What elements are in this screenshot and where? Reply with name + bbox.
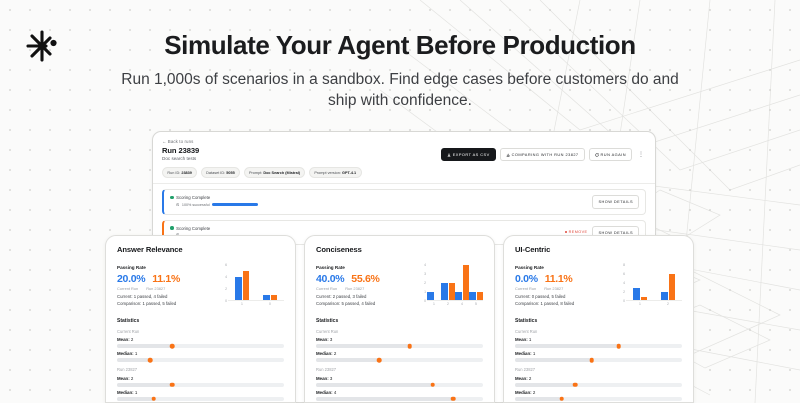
stat-slider-fill — [515, 397, 562, 401]
chip-value: 5055 — [226, 171, 234, 175]
stat-value: 2 — [334, 351, 336, 356]
y-tick-label: 4 — [225, 275, 227, 279]
bar — [243, 271, 250, 301]
comparison-run-label: Run 23827 — [544, 286, 563, 291]
current-passing-rate: 20.0% — [117, 273, 145, 285]
y-tick-label: 4 — [424, 263, 426, 267]
stat-slider[interactable] — [117, 344, 284, 348]
stat-slider-fill — [117, 397, 154, 401]
bar-group — [455, 265, 469, 301]
stat-slider-fill — [117, 344, 172, 348]
stat-label: Mean: 1 — [515, 337, 682, 342]
hero-section: Simulate Your Agent Before Production Ru… — [0, 30, 800, 112]
stat-slider[interactable] — [316, 358, 483, 362]
export-csv-label: EXPORT AS CSV — [453, 152, 490, 157]
scoring-status: Scoring Complete — [170, 195, 258, 200]
score-distribution-chart: 012341245 — [418, 265, 483, 309]
stat-slider[interactable] — [515, 344, 682, 348]
metric-card-ui-centric: UI-Centric Passing Rate 0.0% 11.1% Curre… — [503, 235, 694, 403]
chart-plot-area — [228, 265, 284, 301]
bar — [633, 288, 640, 302]
check-circle-icon — [170, 226, 174, 230]
y-tick-label: 0 — [424, 299, 426, 303]
y-tick-label: 2 — [424, 281, 426, 285]
stat-slider[interactable] — [316, 344, 483, 348]
stat-item: Mean: 2 — [117, 376, 284, 387]
stat-slider[interactable] — [117, 397, 284, 401]
stat-slider[interactable] — [117, 358, 284, 362]
passing-rate-label: Passing Rate — [316, 265, 412, 270]
current-passing-rate: 40.0% — [316, 273, 344, 285]
card-title: Answer Relevance — [117, 245, 284, 254]
stat-label: Mean: 3 — [316, 337, 483, 342]
stat-value: 1 — [529, 337, 531, 342]
statistics-label: Statistics — [515, 318, 682, 324]
y-tick-label: 0 — [623, 299, 625, 303]
stat-slider-knob[interactable] — [431, 382, 436, 387]
current-run-label: Current Run — [316, 286, 337, 291]
current-pass-fail-text: Current: 1 passed, 4 failed — [117, 294, 213, 299]
stat-slider-knob[interactable] — [407, 344, 412, 349]
stat-value: 1 — [533, 351, 535, 356]
stat-label: Mean: 2 — [515, 376, 682, 381]
stat-group-label: Run 23827 — [515, 367, 682, 372]
statistics-section: Statistics Current Run Mean: 3 Median: 2… — [316, 318, 483, 401]
check-circle-icon — [170, 196, 174, 200]
chart-y-axis: 02468 — [617, 265, 626, 301]
scoring-status-label: Scoring Complete — [176, 195, 210, 200]
scoring-status-label: Scoring Complete — [176, 226, 210, 231]
stat-value: 3 — [330, 337, 332, 342]
run-title: Run 23839 — [162, 146, 199, 155]
export-csv-button[interactable]: EXPORT AS CSV — [441, 148, 496, 161]
stat-slider-fill — [316, 397, 453, 401]
x-tick-label: 2 — [654, 301, 682, 309]
show-details-button[interactable]: SHOW DETAILS — [592, 195, 639, 208]
stat-value: 3 — [330, 376, 332, 381]
chart-plot-area — [626, 265, 682, 301]
chart-y-axis: 01234 — [418, 265, 427, 301]
stat-slider-fill — [316, 383, 433, 387]
stat-value: 2 — [533, 390, 535, 395]
stat-slider-knob[interactable] — [451, 396, 456, 401]
metric-cards: Answer Relevance Passing Rate 20.0% 11.1… — [105, 235, 695, 403]
current-run-label: Current Run — [117, 286, 138, 291]
stat-slider[interactable] — [316, 383, 483, 387]
stat-slider-knob[interactable] — [148, 358, 153, 363]
stat-slider-knob[interactable] — [590, 358, 595, 363]
y-tick-label: 2 — [225, 287, 227, 291]
stat-value: 4 — [334, 390, 336, 395]
header-actions: EXPORT AS CSV COMPARING WITH RUN 23827 R… — [441, 139, 646, 161]
refresh-icon — [595, 153, 599, 157]
current-passing-rate: 0.0% — [515, 273, 538, 285]
stat-label: Median: 1 — [117, 351, 284, 356]
stat-slider-fill — [316, 358, 379, 362]
current-pass-fail-text: Current: 2 passed, 3 failed — [316, 294, 412, 299]
chart-x-axis: 12 — [626, 301, 682, 309]
comparison-run-label: Run 23827 — [345, 286, 364, 291]
stat-slider-fill — [515, 344, 619, 348]
stat-group-label: Current Run — [117, 329, 284, 334]
score-distribution-chart: 0246812 — [617, 265, 682, 309]
statistics-label: Statistics — [117, 318, 284, 324]
chart-plot-area — [427, 265, 483, 301]
stat-group-label: Run 23827 — [316, 367, 483, 372]
y-tick-label: 1 — [424, 290, 426, 294]
score-distribution-chart: 024610 — [219, 265, 284, 309]
comparison-pass-fail-text: Comparison: 1 passed, 5 failed — [117, 301, 213, 306]
header-divider — [153, 183, 655, 184]
comparison-pass-fail-text: Comparison: 1 passed, 8 failed — [515, 301, 611, 306]
stat-slider-fill — [117, 358, 150, 362]
score-row: Scoring Complete 100% successful SHOW DE… — [162, 189, 646, 214]
chip-label: Prompt: — [249, 171, 262, 175]
stat-item: Mean: 2 — [117, 337, 284, 348]
comparison-passing-rate: 55.6% — [351, 273, 379, 285]
bar-group — [256, 265, 284, 301]
stat-value: 2 — [131, 337, 133, 342]
chip-value: GPT-4.1 — [342, 171, 356, 175]
clock-icon — [176, 203, 179, 206]
y-tick-label: 3 — [424, 272, 426, 276]
statistics-section: Statistics Current Run Mean: 1 Median: 1… — [515, 318, 682, 401]
bar-group — [228, 265, 256, 301]
kebab-menu-icon[interactable]: ⋮ — [636, 151, 646, 158]
statistics-section: Statistics Current Run Mean: 2 Median: 1… — [117, 318, 284, 401]
bar — [235, 277, 242, 301]
stat-item: Mean: 1 — [515, 337, 682, 348]
progress-bar — [212, 203, 258, 205]
back-to-runs-link[interactable]: ← Back to runs — [162, 139, 199, 144]
stat-slider-fill — [515, 358, 592, 362]
y-tick-label: 8 — [623, 263, 625, 267]
stat-value: 2 — [131, 376, 133, 381]
stat-slider-knob[interactable] — [573, 382, 578, 387]
chip-prompt-version: Prompt version: GPT-4.1 — [309, 167, 362, 178]
remove-label: REMOVE — [569, 230, 588, 234]
stat-slider-fill — [515, 383, 575, 387]
stat-label: Mean: 2 — [117, 376, 284, 381]
comparison-pass-fail-text: Comparison: 5 passed, 4 failed — [316, 301, 412, 306]
x-tick-label: 5 — [469, 301, 483, 309]
stat-item: Median: 2 — [515, 390, 682, 401]
stat-item: Median: 1 — [117, 390, 284, 401]
chip-run-id: Run ID: 23839 — [162, 167, 197, 178]
x-tick-label: 1 — [228, 301, 256, 309]
x-tick-label: 0 — [256, 301, 284, 309]
stat-slider-knob[interactable] — [559, 396, 564, 401]
chip-value: 23839 — [181, 171, 192, 175]
current-pass-fail-text: Current: 0 passed, 5 failed — [515, 294, 611, 299]
x-tick-label: 1 — [427, 301, 441, 309]
chip-label: Dataset ID: — [206, 171, 225, 175]
x-tick-label: 2 — [441, 301, 455, 309]
close-icon — [565, 231, 567, 233]
stat-item: Median: 4 — [316, 390, 483, 401]
scoring-detail-label: 100% successful — [182, 203, 210, 207]
stat-slider-fill — [316, 344, 410, 348]
bar-group — [469, 265, 483, 301]
bar-group — [441, 265, 455, 301]
stat-label: Median: 1 — [117, 390, 284, 395]
stat-value: 2 — [529, 376, 531, 381]
page-subtitle: Run 1,000s of scenarios in a sandbox. Fi… — [120, 70, 680, 112]
run-again-button[interactable]: RUN AGAIN — [589, 148, 632, 161]
stat-groups: Current Run Mean: 2 Median: 1 Run 23827 … — [117, 329, 284, 401]
scoring-detail: 100% successful — [176, 203, 258, 207]
stat-value: 1 — [135, 351, 137, 356]
stat-item: Median: 1 — [117, 351, 284, 362]
stat-group-label: Current Run — [515, 329, 682, 334]
comparison-passing-rate: 11.1% — [545, 273, 573, 285]
y-tick-label: 6 — [623, 272, 625, 276]
stat-item: Median: 1 — [515, 351, 682, 362]
y-tick-label: 4 — [623, 281, 625, 285]
card-title: UI-Centric — [515, 245, 682, 254]
stat-label: Median: 4 — [316, 390, 483, 395]
chip-value: Doc Search (Mistral) — [263, 171, 300, 175]
comparing-label: COMPARING WITH RUN 23827 — [512, 152, 579, 157]
comparison-run-label: Run 23827 — [146, 286, 165, 291]
remove-button[interactable]: REMOVE — [565, 230, 588, 234]
bar — [669, 274, 676, 301]
chart-x-axis: 10 — [228, 301, 284, 309]
scoring-status: Scoring Complete — [170, 226, 210, 231]
x-tick-label: 4 — [455, 301, 469, 309]
stat-item: Mean: 3 — [316, 337, 483, 348]
run-again-label: RUN AGAIN — [601, 152, 626, 157]
download-icon — [447, 153, 451, 157]
x-tick-label: 1 — [626, 301, 654, 309]
window-header: ← Back to runs Run 23839 Doc search test… — [153, 132, 655, 183]
bar-group — [427, 265, 441, 301]
stat-slider-fill — [117, 383, 172, 387]
card-title: Conciseness — [316, 245, 483, 254]
stat-slider[interactable] — [515, 397, 682, 401]
y-tick-label: 0 — [225, 299, 227, 303]
stat-group-label: Current Run — [316, 329, 483, 334]
stat-slider[interactable] — [117, 383, 284, 387]
stat-label: Mean: 2 — [117, 337, 284, 342]
chip-label: Run ID: — [167, 171, 180, 175]
chart-icon — [506, 153, 510, 157]
stat-slider[interactable] — [515, 383, 682, 387]
stat-group-label: Run 23827 — [117, 367, 284, 372]
stat-groups: Current Run Mean: 3 Median: 2 Run 23827 … — [316, 329, 483, 401]
metric-card-conciseness: Conciseness Passing Rate 40.0% 55.6% Cur… — [304, 235, 495, 403]
stat-slider-knob[interactable] — [170, 344, 175, 349]
y-tick-label: 2 — [623, 290, 625, 294]
stat-label: Median: 2 — [515, 390, 682, 395]
stat-item: Median: 2 — [316, 351, 483, 362]
chip-dataset-id: Dataset ID: 5055 — [201, 167, 240, 178]
stat-slider-knob[interactable] — [616, 344, 621, 349]
stat-value: 1 — [135, 390, 137, 395]
run-subtitle: Doc search tests — [162, 156, 199, 161]
stat-slider[interactable] — [316, 397, 483, 401]
bar — [441, 283, 448, 301]
current-run-label: Current Run — [515, 286, 536, 291]
stat-label: Median: 2 — [316, 351, 483, 356]
passing-rate-label: Passing Rate — [117, 265, 213, 270]
stat-slider-knob[interactable] — [377, 358, 382, 363]
comparing-with-run-button[interactable]: COMPARING WITH RUN 23827 — [500, 148, 585, 161]
bar-group — [654, 265, 682, 301]
bar-group — [626, 265, 654, 301]
comparison-passing-rate: 11.1% — [152, 273, 180, 285]
stat-slider-knob[interactable] — [170, 382, 175, 387]
statistics-label: Statistics — [316, 318, 483, 324]
passing-rate-label: Passing Rate — [515, 265, 611, 270]
chart-y-axis: 0246 — [219, 265, 228, 301]
stat-slider[interactable] — [515, 358, 682, 362]
stat-groups: Current Run Mean: 1 Median: 1 Run 23827 … — [515, 329, 682, 401]
stat-item: Mean: 3 — [316, 376, 483, 387]
y-tick-label: 6 — [225, 263, 227, 267]
page-title: Simulate Your Agent Before Production — [0, 30, 800, 61]
stat-slider-knob[interactable] — [151, 396, 156, 401]
chip-label: Prompt version: — [314, 171, 341, 175]
chart-x-axis: 1245 — [427, 301, 483, 309]
stat-item: Mean: 2 — [515, 376, 682, 387]
stat-label: Mean: 3 — [316, 376, 483, 381]
run-metadata-chips: Run ID: 23839 Dataset ID: 5055 Prompt: D… — [162, 167, 646, 178]
metric-card-answer-relevance: Answer Relevance Passing Rate 20.0% 11.1… — [105, 235, 296, 403]
stat-label: Median: 1 — [515, 351, 682, 356]
chip-prompt: Prompt: Doc Search (Mistral) — [244, 167, 306, 178]
